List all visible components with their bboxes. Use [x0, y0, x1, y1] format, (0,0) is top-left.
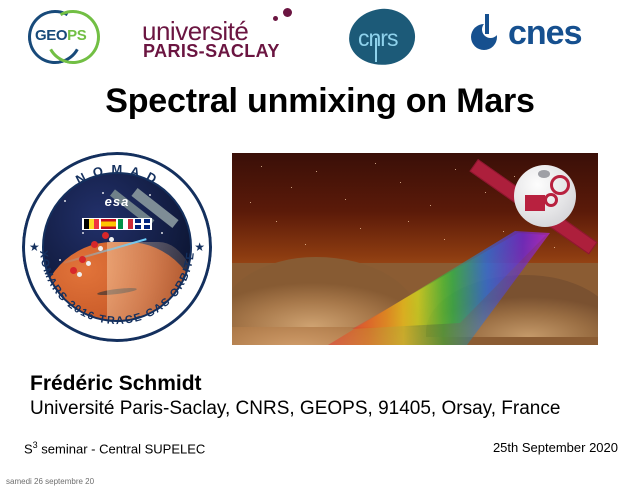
cnrs-tail-icon [375, 38, 377, 62]
nomad-star-right-icon: ★ [194, 242, 205, 252]
cnes-logo: cnes [468, 12, 603, 60]
cnrs-logo: cnrs [345, 8, 423, 66]
event-suffix: seminar - Central SUPELEC [38, 441, 206, 456]
export-timestamp: samedi 26 septembre 20 [6, 477, 94, 486]
event-prefix: S [24, 441, 33, 456]
ups-dot-small-icon [273, 16, 278, 21]
flag-belgium-icon [84, 219, 99, 229]
presentation-date: 25th September 2020 [493, 440, 618, 455]
nomad-valles-marineris [97, 287, 137, 297]
spacecraft-dish-icon [550, 175, 570, 195]
event-label: S3 seminar - Central SUPELEC [24, 440, 205, 456]
geops-logo: GEOPS [18, 8, 110, 66]
nomad-flag-strip [82, 218, 152, 230]
universite-paris-saclay-logo: université PARIS-SACLAY [140, 8, 300, 64]
presentation-slide: GEOPS université PARIS-SACLAY cnrs cnes … [0, 0, 640, 493]
geops-logo-text: GEOPS [35, 27, 86, 45]
spacecraft-illustration [484, 155, 596, 263]
cnrs-logo-text: cnrs [358, 25, 397, 52]
ups-logo-line2: PARIS-SACLAY [143, 41, 280, 62]
nomad-mission-patch: esa ★ ★ N O M A D EXOMARS 2016 TRACE GAS… [22, 152, 212, 342]
slide-title: Spectral unmixing on Mars [0, 82, 640, 121]
nomad-scene: esa [42, 172, 192, 322]
author-affiliation: Université Paris-Saclay, CNRS, GEOPS, 91… [30, 398, 560, 420]
mars-spectral-figure [232, 153, 598, 345]
logo-bar: GEOPS université PARIS-SACLAY cnrs cnes [0, 0, 640, 74]
geops-logo-text-ps: PS [67, 27, 86, 44]
author-name: Frédéric Schmidt [30, 372, 202, 396]
nomad-star-left-icon: ★ [29, 242, 40, 252]
cnes-mark-icon [468, 14, 502, 52]
nomad-mars-globe [42, 242, 192, 322]
flag-united-kingdom-icon [135, 219, 150, 229]
geops-logo-text-geo: GEO [35, 27, 67, 44]
flag-italy-icon [118, 219, 133, 229]
flag-spain-icon [101, 219, 116, 229]
cnes-stem-icon [485, 14, 489, 34]
cnes-logo-text: cnes [508, 14, 582, 53]
esa-logo-text: esa [105, 194, 130, 209]
spacecraft-spot [538, 170, 550, 178]
spacecraft-instrument-ring [544, 193, 558, 207]
spacecraft-instrument [525, 195, 545, 211]
spacecraft-body [514, 165, 576, 227]
ups-dot-large-icon [283, 8, 292, 17]
